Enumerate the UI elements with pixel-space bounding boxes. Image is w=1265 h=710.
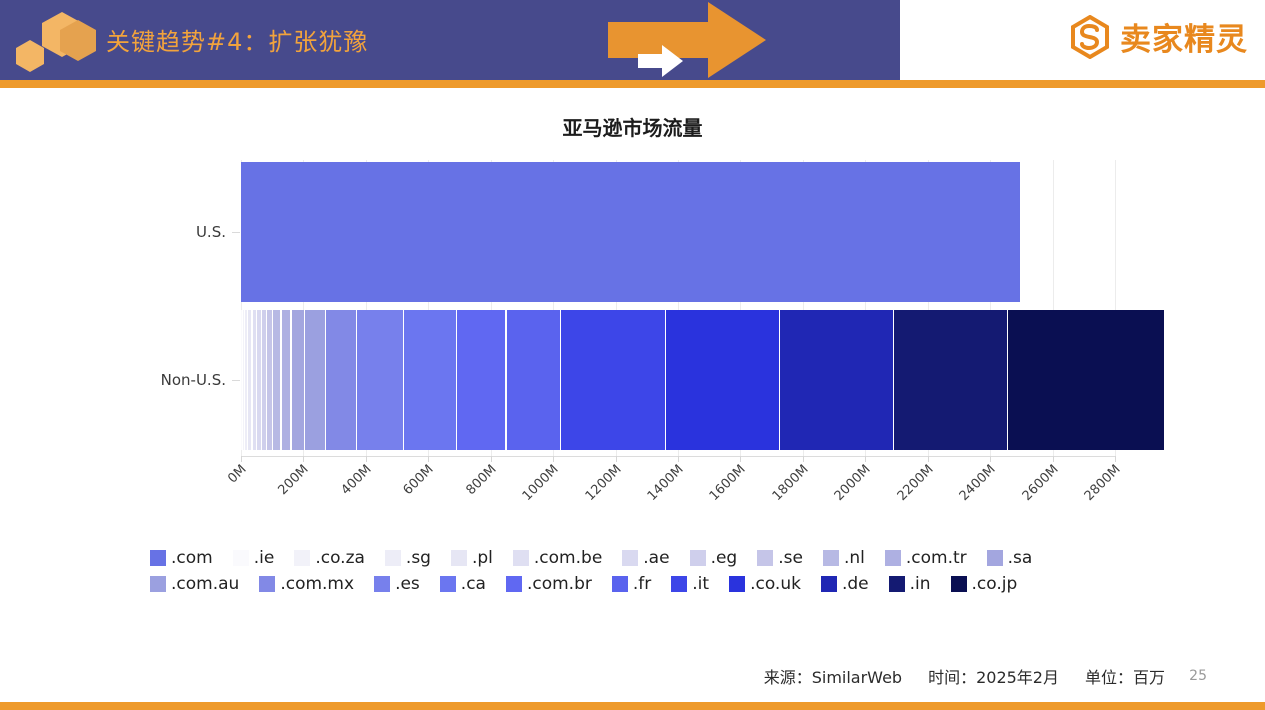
- x-tick: [491, 456, 492, 462]
- x-tick: [1115, 456, 1116, 462]
- bar-segment[interactable]: [357, 310, 402, 450]
- legend-label: .es: [395, 574, 420, 594]
- legend-label: .sg: [406, 548, 431, 568]
- page-number: 25: [1189, 668, 1207, 684]
- brand-block: 卖家精灵: [900, 0, 1265, 80]
- x-tick: [303, 456, 304, 462]
- x-tick-label: 800M: [463, 462, 499, 498]
- legend-swatch-icon: [233, 550, 249, 566]
- slide-root: 关键趋势#4：扩张犹豫 卖家精灵 亚马逊市场流量 0M200M400M600M8…: [0, 0, 1265, 710]
- legend-label: .com.be: [534, 548, 602, 568]
- legend-item[interactable]: .co.za: [294, 548, 365, 568]
- bar-segment[interactable]: [243, 310, 244, 450]
- x-tick: [865, 456, 866, 462]
- legend-swatch-icon: [374, 576, 390, 592]
- y-axis-label-us: U.S.: [76, 223, 226, 241]
- y-tick: [232, 380, 240, 381]
- legend-item[interactable]: .co.jp: [951, 574, 1018, 594]
- bar-segment[interactable]: [666, 310, 779, 450]
- bar-segment[interactable]: [780, 310, 893, 450]
- legend-item[interactable]: .com: [150, 548, 213, 568]
- x-tick-label: 200M: [276, 462, 312, 498]
- footer-meta: 来源：SimilarWeb 时间：2025年2月 单位：百万: [764, 664, 1165, 688]
- legend-label: .eg: [711, 548, 738, 568]
- legend-swatch-icon: [823, 550, 839, 566]
- legend-swatch-icon: [259, 576, 275, 592]
- bar-segment[interactable]: [404, 310, 456, 450]
- bar-segment[interactable]: [292, 310, 304, 450]
- x-tick: [616, 456, 617, 462]
- bar-nonus[interactable]: [241, 310, 1115, 450]
- x-tick: [241, 456, 242, 462]
- legend-swatch-icon: [440, 576, 456, 592]
- x-tick: [678, 456, 679, 462]
- legend-swatch-icon: [150, 550, 166, 566]
- legend-item[interactable]: .com.tr: [885, 548, 967, 568]
- bar-segment[interactable]: [248, 310, 251, 450]
- legend-swatch-icon: [757, 550, 773, 566]
- x-tick-label: 2000M: [832, 462, 874, 504]
- legend-swatch-icon: [451, 550, 467, 566]
- x-tick-label: 0M: [225, 462, 249, 486]
- legend-swatch-icon: [885, 550, 901, 566]
- legend-label: .ae: [643, 548, 669, 568]
- chart-legend: .com.ie.co.za.sg.pl.com.be.ae.eg.se.nl.c…: [150, 548, 1110, 594]
- legend-item[interactable]: .es: [374, 574, 420, 594]
- legend-item[interactable]: .sa: [987, 548, 1033, 568]
- legend-item[interactable]: .com.be: [513, 548, 602, 568]
- x-tick-label: 2400M: [957, 462, 999, 504]
- bar-segment[interactable]: [245, 310, 247, 450]
- hexagon-cluster-icon: [14, 10, 96, 74]
- footer-unit: 单位：百万: [1085, 664, 1165, 688]
- legend-item[interactable]: .ca: [440, 574, 486, 594]
- small-right-arrow-icon: [638, 44, 684, 83]
- bar-segment[interactable]: [262, 310, 266, 450]
- legend-row-2: .com.au.com.mx.es.ca.com.br.fr.it.co.uk.…: [150, 574, 1110, 594]
- legend-swatch-icon: [951, 576, 967, 592]
- legend-label: .com.mx: [280, 574, 354, 594]
- legend-item[interactable]: .it: [671, 574, 709, 594]
- legend-item[interactable]: .fr: [612, 574, 651, 594]
- x-tick: [928, 456, 929, 462]
- legend-swatch-icon: [385, 550, 401, 566]
- x-tick: [990, 456, 991, 462]
- footer-time: 时间：2025年2月: [928, 664, 1059, 688]
- legend-swatch-icon: [513, 550, 529, 566]
- legend-item[interactable]: .nl: [823, 548, 865, 568]
- x-tick: [740, 456, 741, 462]
- legend-item[interactable]: .com.mx: [259, 574, 354, 594]
- bar-segment[interactable]: [457, 310, 505, 450]
- legend-label: .fr: [633, 574, 651, 594]
- legend-label: .de: [842, 574, 869, 594]
- right-arrow-icon: [608, 0, 768, 85]
- x-tick-label: 1200M: [582, 462, 624, 504]
- legend-item[interactable]: .in: [889, 574, 931, 594]
- bar-segment[interactable]: [894, 310, 1007, 450]
- legend-item[interactable]: .sg: [385, 548, 431, 568]
- legend-label: .sa: [1008, 548, 1033, 568]
- chart-title: 亚马逊市场流量: [0, 112, 1265, 141]
- legend-label: .co.uk: [750, 574, 801, 594]
- x-tick-label: 1600M: [707, 462, 749, 504]
- y-axis-label-nonus: Non-U.S.: [76, 371, 226, 389]
- legend-item[interactable]: .pl: [451, 548, 493, 568]
- legend-label: .co.za: [315, 548, 365, 568]
- legend-label: .co.jp: [972, 574, 1018, 594]
- bar-segment[interactable]: [507, 310, 560, 450]
- brand-name: 卖家精灵: [1120, 14, 1248, 59]
- legend-item[interactable]: .com.au: [150, 574, 239, 594]
- x-tick: [1053, 456, 1054, 462]
- legend-swatch-icon: [612, 576, 628, 592]
- legend-swatch-icon: [889, 576, 905, 592]
- legend-item[interactable]: .se: [757, 548, 803, 568]
- legend-label: .com.br: [527, 574, 592, 594]
- legend-item[interactable]: .co.uk: [729, 574, 801, 594]
- x-tick: [428, 456, 429, 462]
- legend-swatch-icon: [729, 576, 745, 592]
- legend-swatch-icon: [987, 550, 1003, 566]
- legend-row-1: .com.ie.co.za.sg.pl.com.be.ae.eg.se.nl.c…: [150, 548, 1110, 568]
- x-tick-label: 2600M: [1019, 462, 1061, 504]
- x-tick-label: 400M: [338, 462, 374, 498]
- legend-swatch-icon: [690, 550, 706, 566]
- footer-source: 来源：SimilarWeb: [764, 664, 902, 688]
- chart-plot-area: [241, 160, 1115, 456]
- legend-label: .pl: [472, 548, 493, 568]
- legend-label: .com: [171, 548, 213, 568]
- bar-us[interactable]: [241, 162, 1115, 302]
- x-tick: [553, 456, 554, 462]
- x-tick-label: 600M: [401, 462, 437, 498]
- legend-label: .ie: [254, 548, 275, 568]
- bar-segment[interactable]: [282, 310, 291, 450]
- legend-item[interactable]: .de: [821, 574, 869, 594]
- legend-swatch-icon: [671, 576, 687, 592]
- legend-label: .ca: [461, 574, 486, 594]
- legend-swatch-icon: [506, 576, 522, 592]
- legend-item[interactable]: .eg: [690, 548, 738, 568]
- legend-label: .se: [778, 548, 803, 568]
- legend-swatch-icon: [821, 576, 837, 592]
- brand-logo: 卖家精灵: [1070, 14, 1248, 59]
- x-tick-label: 1800M: [770, 462, 812, 504]
- legend-item[interactable]: .com.br: [506, 574, 592, 594]
- legend-label: .it: [692, 574, 709, 594]
- page-title: 关键趋势#4：扩张犹豫: [106, 22, 368, 57]
- y-tick: [232, 232, 240, 233]
- bar-segment[interactable]: [267, 310, 272, 450]
- hexagon-s-logo-icon: [1070, 15, 1110, 59]
- bar-segment[interactable]: [561, 310, 664, 450]
- bar-segment[interactable]: [257, 310, 261, 450]
- legend-label: .com.au: [171, 574, 239, 594]
- bar-segment[interactable]: [1008, 310, 1164, 450]
- legend-label: .nl: [844, 548, 865, 568]
- x-tick-label: 1400M: [645, 462, 687, 504]
- legend-swatch-icon: [150, 576, 166, 592]
- bar-segment[interactable]: [241, 162, 1020, 302]
- legend-item[interactable]: .ie: [233, 548, 275, 568]
- bar-segment[interactable]: [326, 310, 356, 450]
- legend-label: .in: [910, 574, 931, 594]
- x-tick: [366, 456, 367, 462]
- x-tick: [803, 456, 804, 462]
- legend-label: .com.tr: [906, 548, 967, 568]
- legend-item[interactable]: .ae: [622, 548, 669, 568]
- bar-segment[interactable]: [253, 310, 256, 450]
- x-tick-label: 1000M: [520, 462, 562, 504]
- legend-swatch-icon: [622, 550, 638, 566]
- footer-accent-bar: [0, 702, 1265, 710]
- bar-segment[interactable]: [273, 310, 280, 450]
- x-tick-label: 2200M: [894, 462, 936, 504]
- x-tick-label: 2800M: [1082, 462, 1124, 504]
- bar-segment[interactable]: [241, 310, 242, 450]
- bar-segment[interactable]: [305, 310, 325, 450]
- legend-swatch-icon: [294, 550, 310, 566]
